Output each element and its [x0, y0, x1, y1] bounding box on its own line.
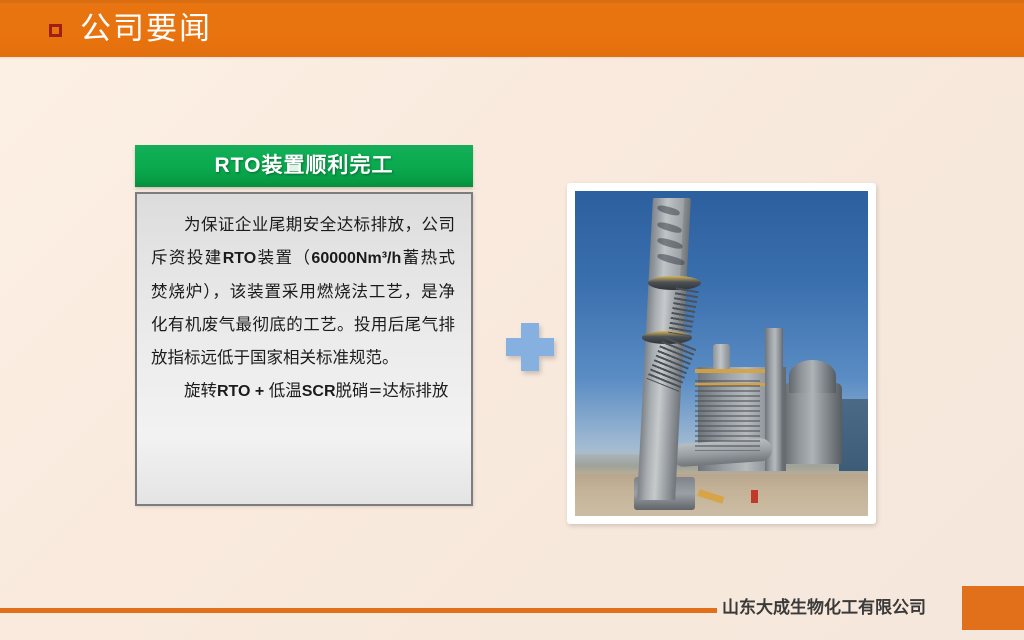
- para2-seg-0: 旋转: [184, 381, 217, 400]
- slide-canvas: 公司要闻 RTO装置顺利完工 为保证企业尾期安全达标排放，公司斥资投建RTO装置…: [0, 0, 1024, 640]
- para1-seg-2: 装置（: [256, 248, 311, 267]
- photo-red-marker: [751, 490, 758, 503]
- footer-accent-block: [962, 586, 1024, 630]
- header-top-accent-strip: [0, 0, 1024, 3]
- photo-stairs-structure: [695, 380, 759, 452]
- section-heading-label: RTO装置顺利完工: [135, 145, 473, 187]
- description-textbox: 为保证企业尾期安全达标排放，公司斥资投建RTO装置（60000Nm³/h蓄热式焚…: [135, 192, 473, 506]
- photo-rail-upper: [695, 369, 765, 373]
- photo-vessel-top: [789, 360, 836, 393]
- para2-seg-4: 脱硝=达标排放: [336, 381, 449, 400]
- photo-ground: [575, 474, 868, 516]
- para1-seg-3: 60000Nm³/h: [311, 250, 401, 267]
- photo-platform-upper: [648, 276, 701, 291]
- para2-seg-1: RTO +: [217, 383, 269, 400]
- square-outline-icon: [49, 24, 62, 37]
- description-paragraph-2: 旋转RTO + 低温SCR脱硝=达标排放: [151, 374, 455, 408]
- header-bar: 公司要闻: [0, 0, 1024, 57]
- description-paragraph-1: 为保证企业尾期安全达标排放，公司斥资投建RTO装置（60000Nm³/h蓄热式焚…: [151, 208, 455, 374]
- footer-company-name: 山东大成生物化工有限公司: [722, 594, 926, 622]
- section-heading-banner: RTO装置顺利完工: [135, 145, 473, 187]
- footer-accent-line: [0, 608, 717, 613]
- photo-blue-tank: [839, 399, 868, 471]
- plant-photo: [575, 191, 868, 516]
- para2-seg-3: SCR: [302, 383, 336, 400]
- plus-cross-icon: [503, 320, 557, 374]
- photo-vessel-large: [783, 383, 842, 464]
- plant-photo-frame: [567, 183, 876, 524]
- para2-seg-2: 低温: [269, 381, 302, 400]
- photo-silo: [713, 344, 731, 370]
- page-title: 公司要闻: [80, 7, 212, 51]
- para1-seg-1: RTO: [223, 250, 256, 267]
